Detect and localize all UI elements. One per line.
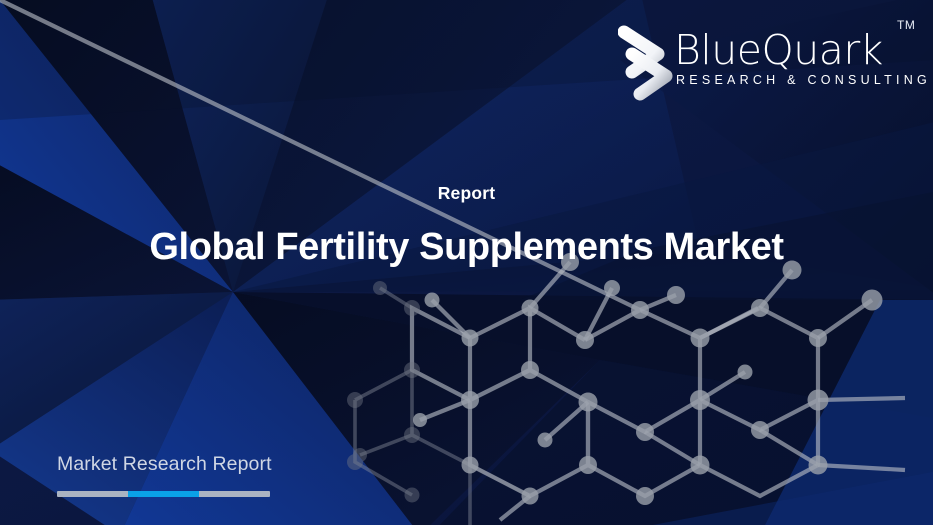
cover-title-group: Report Global Fertility Supplements Mark… xyxy=(0,182,933,270)
report-cover-slide: BlueQuark RESEARCH & CONSULTING TM Repor… xyxy=(0,0,933,525)
footer-accent-rule xyxy=(57,491,270,497)
report-kicker-label: Report xyxy=(0,182,933,204)
brand-tagline: RESEARCH & CONSULTING xyxy=(676,73,924,88)
page-title: Global Fertility Supplements Market xyxy=(0,224,933,270)
brand-logo[interactable]: BlueQuark RESEARCH & CONSULTING TM xyxy=(618,12,918,112)
rule-segment-middle xyxy=(128,491,199,497)
footer-label: Market Research Report xyxy=(57,452,377,477)
rule-segment-left xyxy=(57,491,128,497)
brand-wordmark-group: BlueQuark RESEARCH & CONSULTING xyxy=(674,28,924,88)
trademark-symbol: TM xyxy=(897,18,915,32)
rule-segment-right xyxy=(199,491,270,497)
footer-group: Market Research Report xyxy=(57,452,377,497)
brand-wordmark: BlueQuark xyxy=(674,28,924,72)
